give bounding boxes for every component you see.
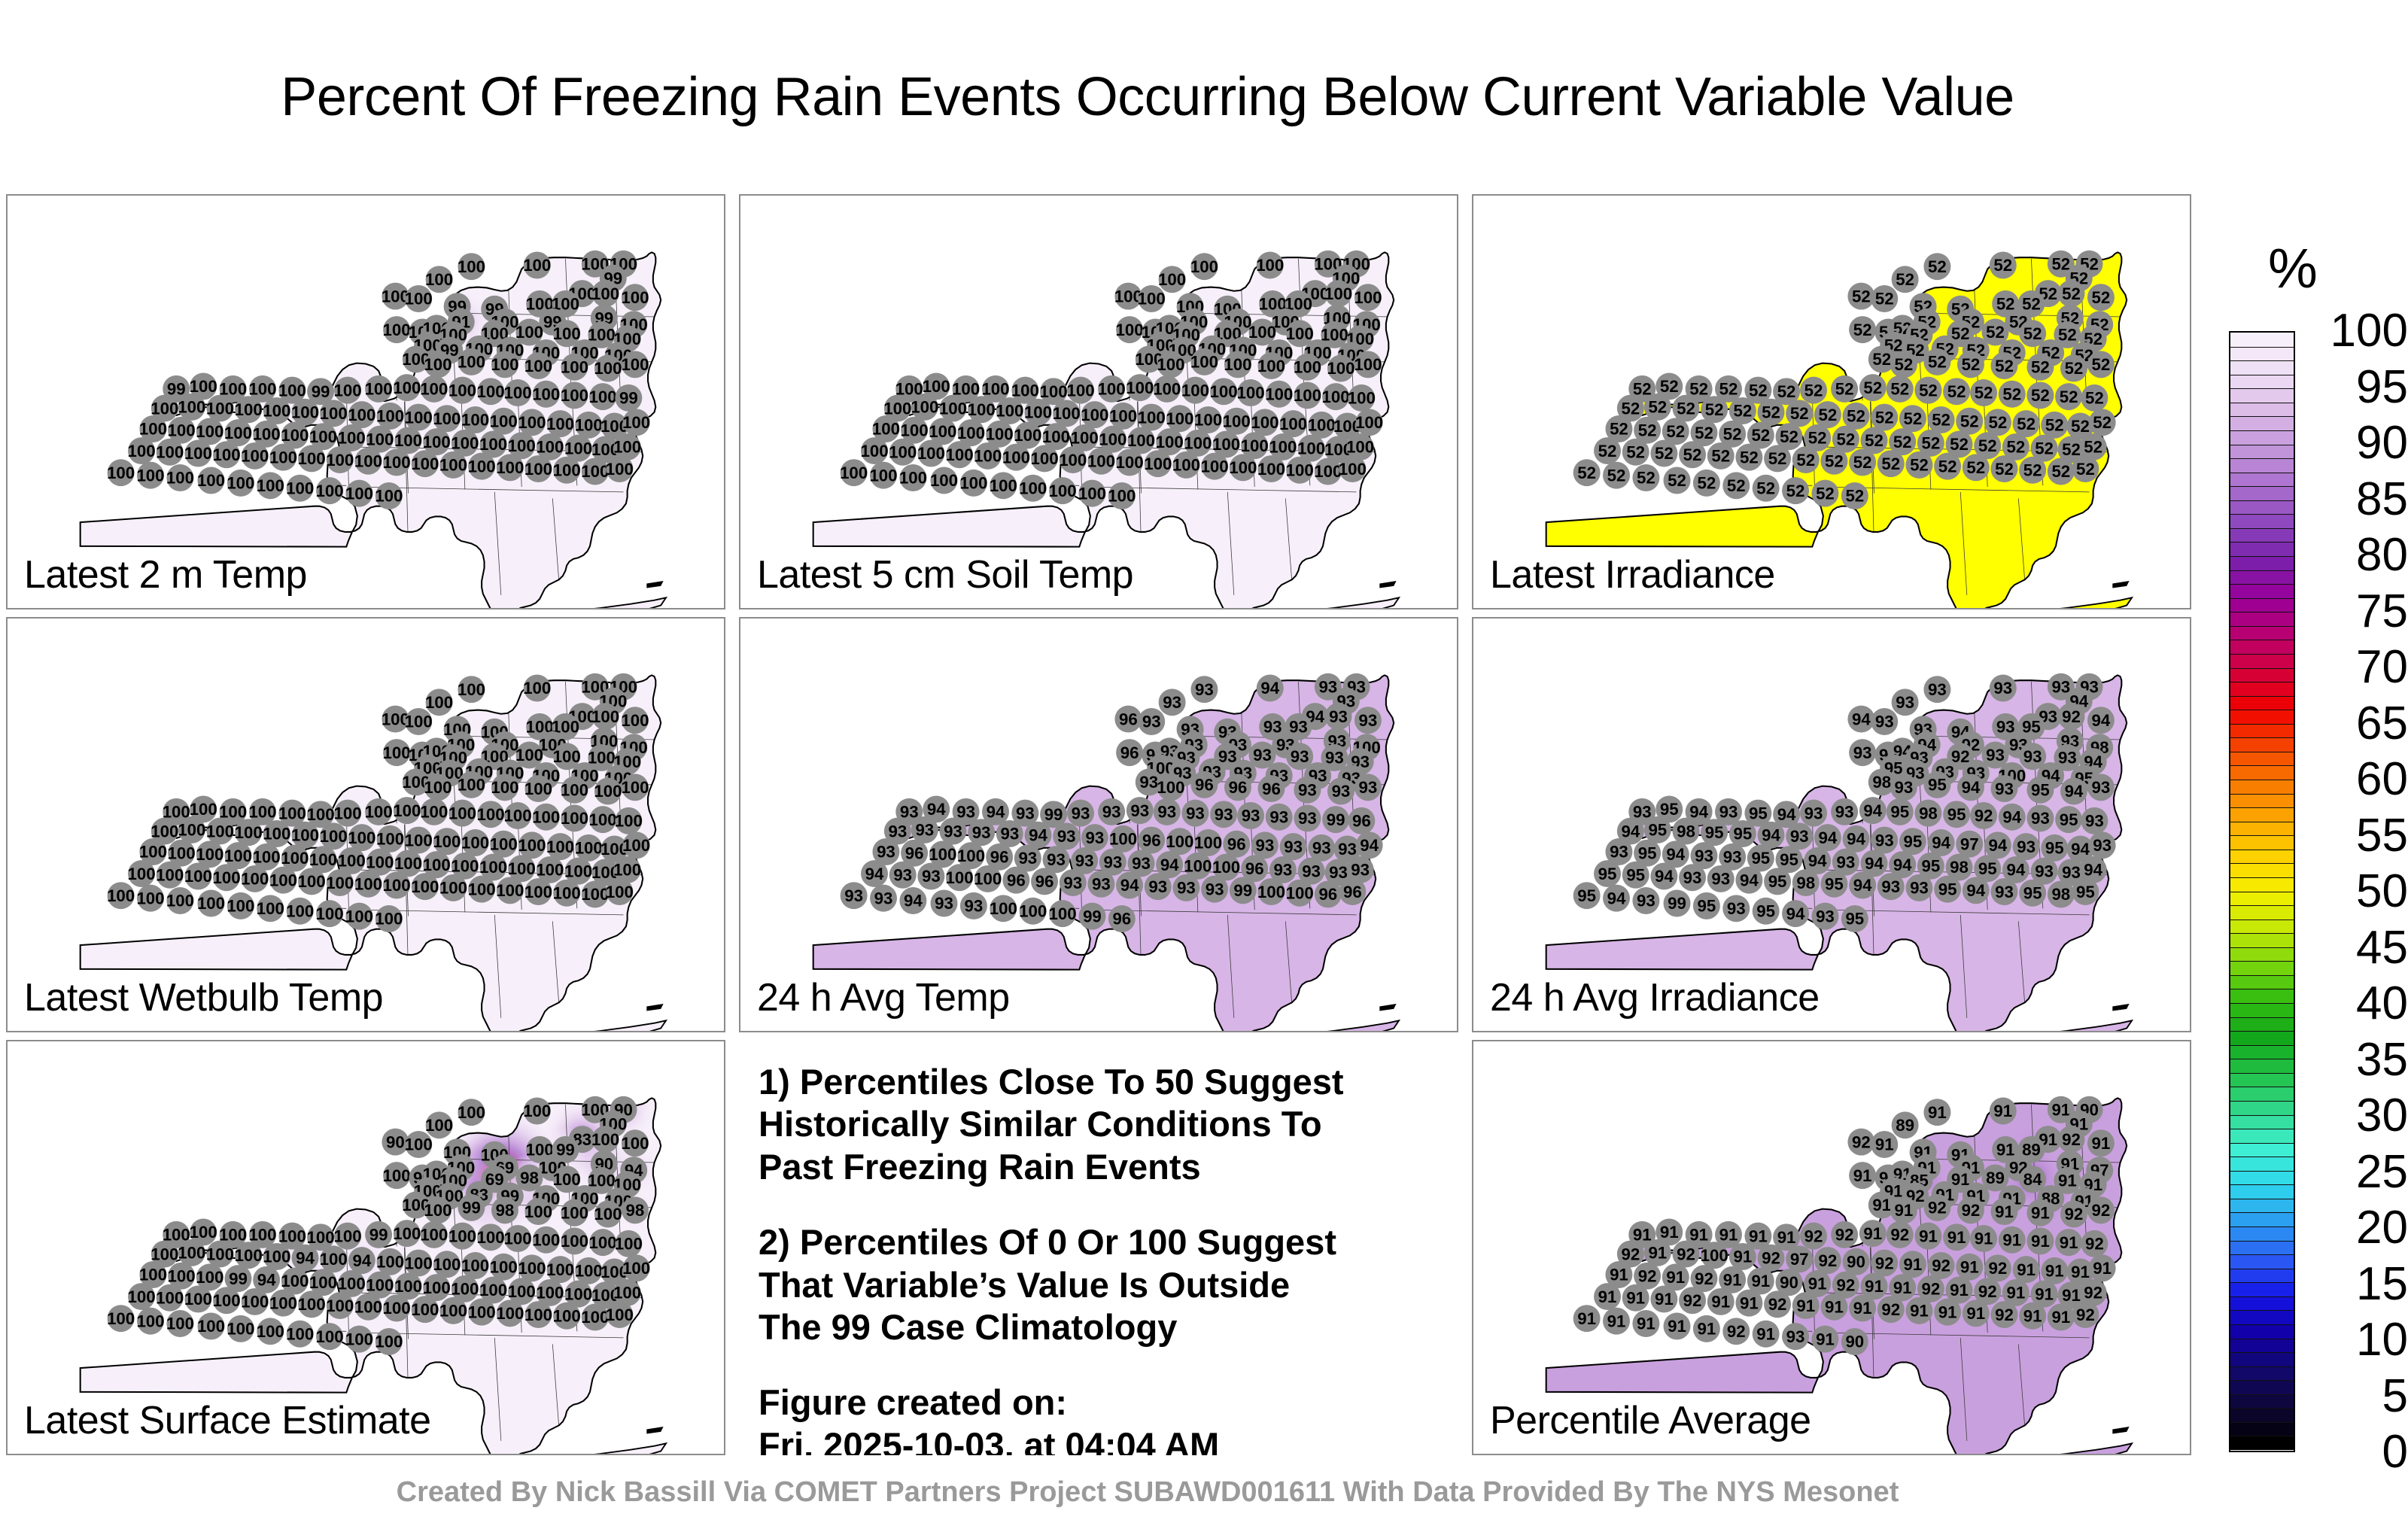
svg-text:100: 100 — [496, 458, 524, 477]
svg-text:52: 52 — [1668, 471, 1686, 490]
station-marker: 100 — [212, 864, 240, 891]
station-marker: 52 — [1622, 439, 1649, 466]
colorbar-tick: 35 — [2298, 1037, 2408, 1084]
station-marker: 100 — [1237, 379, 1265, 406]
svg-text:95: 95 — [2045, 839, 2064, 858]
svg-text:100: 100 — [461, 834, 489, 853]
svg-text:91: 91 — [1950, 1281, 1969, 1299]
station-marker: 93 — [911, 816, 938, 843]
svg-text:100: 100 — [990, 899, 1017, 918]
svg-text:91: 91 — [1607, 1312, 1626, 1330]
station-marker: 100 — [1224, 351, 1251, 378]
station-marker: 100 — [212, 1287, 240, 1314]
svg-text:52: 52 — [1705, 400, 1724, 419]
station-marker: 100 — [491, 351, 518, 378]
station-marker: 52 — [1999, 381, 2026, 408]
station-marker: 100 — [156, 1284, 184, 1312]
svg-text:92: 92 — [1881, 1300, 1900, 1319]
svg-text:100: 100 — [1078, 484, 1106, 503]
station-marker: 95 — [1923, 771, 1950, 798]
station-marker: 52 — [1594, 437, 1621, 464]
colorbar-band — [2230, 1031, 2294, 1045]
colorbar-tick: 20 — [2298, 1205, 2408, 1251]
svg-text:91: 91 — [1796, 1296, 1815, 1315]
station-marker: 90 — [1841, 1328, 1868, 1355]
colorbar-band — [2230, 556, 2294, 570]
svg-text:52: 52 — [1865, 431, 1884, 450]
svg-text:100: 100 — [561, 386, 588, 405]
svg-text:100: 100 — [375, 1333, 403, 1351]
svg-text:100: 100 — [291, 403, 319, 421]
station-marker: 100 — [263, 397, 290, 424]
svg-text:100: 100 — [1324, 284, 1352, 303]
station-marker: 96 — [1114, 706, 1142, 733]
station-marker: 92 — [1877, 1296, 1905, 1323]
station-marker: 92 — [2072, 1301, 2099, 1328]
station-marker: 100 — [504, 1225, 532, 1252]
station-marker: 100 — [1210, 378, 1238, 405]
svg-text:100: 100 — [235, 1246, 263, 1265]
station-marker: 100 — [490, 831, 518, 858]
svg-text:92: 92 — [1975, 807, 1993, 825]
svg-text:94: 94 — [1786, 904, 1805, 923]
svg-text:95: 95 — [1577, 886, 1596, 905]
station-marker: 100 — [333, 800, 361, 827]
svg-text:93: 93 — [1895, 778, 1914, 797]
station-marker: 100 — [326, 869, 354, 896]
svg-text:52: 52 — [1845, 487, 1864, 506]
station-marker: 100 — [424, 774, 451, 801]
svg-text:52: 52 — [2062, 284, 2081, 303]
colorbar-band — [2230, 989, 2294, 1003]
colorbar-band — [2230, 598, 2294, 612]
svg-text:93: 93 — [965, 897, 984, 916]
svg-text:93: 93 — [1072, 804, 1090, 822]
station-marker: 100 — [263, 820, 290, 847]
svg-text:100: 100 — [889, 442, 917, 461]
svg-text:89: 89 — [1986, 1169, 2005, 1187]
svg-text:100: 100 — [968, 400, 996, 419]
svg-text:91: 91 — [1938, 1302, 1957, 1321]
station-marker: 52 — [1664, 467, 1691, 494]
svg-text:52: 52 — [1993, 256, 2012, 275]
svg-text:100: 100 — [1099, 430, 1126, 448]
station-marker: 95 — [1899, 828, 1926, 855]
station-marker: 93 — [1892, 688, 1919, 716]
svg-text:94: 94 — [1777, 805, 1796, 824]
svg-text:94: 94 — [1808, 852, 1827, 871]
station-marker: 93 — [1722, 895, 1750, 922]
svg-text:100: 100 — [224, 424, 252, 442]
station-marker: 100 — [575, 1257, 603, 1284]
svg-text:99: 99 — [1668, 894, 1686, 913]
station-marker: 100 — [468, 1299, 496, 1326]
svg-text:100: 100 — [491, 355, 518, 374]
station-marker: 94 — [1356, 831, 1383, 859]
station-marker: 100 — [241, 865, 269, 892]
station-marker: 100 — [257, 472, 284, 499]
station-marker: 93 — [996, 820, 1023, 847]
svg-text:91: 91 — [1689, 1226, 1708, 1245]
svg-text:93: 93 — [1986, 746, 2005, 764]
station-marker: 100 — [1053, 400, 1081, 427]
station-marker: 100 — [1144, 450, 1172, 477]
svg-text:89: 89 — [1896, 1116, 1914, 1135]
svg-text:99: 99 — [1044, 805, 1063, 824]
svg-text:100: 100 — [477, 1228, 505, 1247]
svg-text:92: 92 — [2092, 1201, 2111, 1220]
svg-text:100: 100 — [248, 380, 276, 399]
station-marker: 52 — [1847, 283, 1874, 310]
station-marker: 52 — [2072, 455, 2099, 482]
station-marker: 52 — [1957, 351, 1984, 378]
station-marker: 91 — [1905, 1297, 1932, 1324]
colorbar-band — [2230, 1352, 2294, 1366]
station-marker: 91 — [1923, 1099, 1950, 1126]
svg-text:93: 93 — [1928, 680, 1947, 699]
station-marker: 100 — [448, 800, 476, 827]
svg-text:93: 93 — [922, 867, 941, 886]
figure-credit: Created By Nick Bassill Via COMET Partne… — [0, 1476, 2295, 1509]
svg-text:93: 93 — [1291, 747, 1309, 766]
station-marker: 93 — [1354, 707, 1382, 734]
svg-text:100: 100 — [1286, 324, 1314, 343]
station-marker: 100 — [917, 440, 945, 467]
station-marker: 52 — [1877, 450, 1905, 477]
svg-text:93: 93 — [1853, 743, 1872, 762]
station-marker: 95 — [1573, 882, 1601, 909]
station-marker: 100 — [354, 448, 382, 475]
station-marker: 99 — [1230, 877, 1257, 904]
station-marker: 91 — [2089, 1254, 2116, 1281]
station-marker: 100 — [524, 1198, 552, 1225]
svg-text:93: 93 — [1163, 693, 1181, 712]
station-marker: 94 — [899, 887, 926, 914]
station-marker: 93 — [1679, 864, 1706, 891]
svg-text:91: 91 — [1928, 1103, 1947, 1122]
station-marker: 100 — [166, 1310, 194, 1337]
station-marker: 52 — [2026, 381, 2054, 409]
station-marker: 93 — [1280, 833, 1307, 860]
svg-text:52: 52 — [1872, 350, 1891, 369]
station-marker: 100 — [235, 396, 263, 423]
colorbar-band — [2230, 919, 2294, 934]
svg-text:100: 100 — [532, 807, 560, 826]
svg-text:100: 100 — [553, 883, 581, 902]
svg-text:95: 95 — [1626, 865, 1645, 884]
station-marker: 100 — [178, 1239, 205, 1266]
svg-text:100: 100 — [383, 1166, 411, 1185]
svg-text:100: 100 — [524, 1306, 552, 1324]
svg-text:100: 100 — [263, 825, 290, 843]
station-marker: 52 — [1984, 409, 2011, 436]
svg-text:100: 100 — [345, 907, 373, 926]
map-surface-24h-avg-irradiance: 9393939394939493939493929493959492939398… — [1473, 619, 2190, 1031]
svg-text:100: 100 — [581, 885, 609, 904]
panel-label-latest-2m-temp: Latest 2 m Temp — [24, 552, 307, 597]
svg-text:91: 91 — [2060, 1233, 2078, 1252]
station-marker: 100 — [561, 1227, 588, 1254]
station-marker: 100 — [1257, 352, 1285, 379]
colorbar-band — [2230, 473, 2294, 487]
svg-text:100: 100 — [1348, 389, 1376, 408]
svg-text:93: 93 — [1177, 879, 1196, 898]
svg-text:100: 100 — [423, 856, 451, 874]
station-marker: 92 — [2081, 1230, 2108, 1257]
svg-text:91: 91 — [1733, 1248, 1752, 1266]
svg-text:100: 100 — [1156, 433, 1184, 451]
station-marker: 91 — [1664, 1312, 1691, 1339]
note-line: 2) Percentiles Of 0 Or 100 Suggest — [759, 1221, 1454, 1263]
svg-text:93: 93 — [1312, 839, 1331, 858]
station-marker: 52 — [1871, 404, 1898, 431]
svg-text:91: 91 — [2051, 1308, 2070, 1327]
station-marker: 100 — [286, 898, 314, 925]
svg-text:100: 100 — [424, 355, 451, 374]
svg-text:100: 100 — [974, 447, 1002, 466]
colorbar-band — [2230, 1199, 2294, 1213]
station-marker: 100 — [1339, 455, 1367, 482]
svg-text:100: 100 — [241, 447, 269, 466]
svg-text:100: 100 — [405, 1135, 433, 1154]
svg-text:100: 100 — [621, 355, 649, 374]
station-marker: 100 — [589, 383, 617, 410]
svg-text:100: 100 — [1279, 415, 1307, 433]
colorbar-band — [2230, 514, 2294, 528]
svg-text:52: 52 — [1947, 382, 1966, 401]
station-marker: 93 — [1237, 802, 1264, 829]
station-marker: 95 — [2026, 777, 2054, 804]
panel-label-latest-surface-estimate: Latest Surface Estimate — [24, 1398, 431, 1443]
svg-text:100: 100 — [394, 431, 422, 450]
station-marker: 93 — [1871, 827, 1898, 854]
station-marker: 94 — [1859, 797, 1887, 824]
station-marker: 52 — [1679, 441, 1706, 468]
svg-text:93: 93 — [1329, 707, 1348, 726]
svg-text:100: 100 — [1190, 257, 1218, 276]
colorbar-band — [2230, 1394, 2294, 1409]
svg-text:100: 100 — [553, 1306, 581, 1325]
svg-text:100: 100 — [136, 466, 164, 485]
station-marker: 92 — [1847, 1129, 1874, 1156]
svg-text:100: 100 — [1294, 386, 1321, 405]
colorbar-band — [2230, 1380, 2294, 1394]
note-paragraph-2: 2) Percentiles Of 0 Or 100 SuggestThat V… — [759, 1221, 1454, 1348]
svg-text:100: 100 — [523, 256, 551, 275]
station-marker: 95 — [1820, 871, 1847, 898]
svg-text:52: 52 — [1786, 482, 1805, 500]
station-marker: 91 — [1899, 1251, 1926, 1278]
svg-text:93: 93 — [1338, 840, 1357, 859]
svg-text:91: 91 — [1598, 1287, 1617, 1306]
station-marker: 100 — [424, 351, 451, 378]
svg-text:100: 100 — [1014, 426, 1041, 445]
colorbar-band — [2230, 1129, 2294, 1143]
svg-text:93: 93 — [935, 894, 953, 913]
svg-text:100: 100 — [561, 1232, 588, 1251]
svg-text:100: 100 — [196, 422, 223, 441]
svg-text:91: 91 — [1610, 1266, 1628, 1284]
station-marker: 100 — [405, 404, 433, 431]
svg-text:100: 100 — [606, 883, 634, 901]
svg-text:95: 95 — [2076, 883, 2095, 901]
svg-text:100: 100 — [621, 711, 649, 730]
svg-text:100: 100 — [872, 420, 900, 439]
colorbar-band — [2230, 542, 2294, 556]
svg-text:100: 100 — [869, 466, 897, 485]
station-marker: 91 — [1594, 1283, 1621, 1310]
station-marker: 91 — [2026, 1227, 2054, 1254]
svg-text:91: 91 — [1740, 1293, 1759, 1312]
colorbar-band — [2230, 445, 2294, 459]
svg-text:52: 52 — [2058, 326, 2077, 345]
station-marker: 99 — [365, 1221, 392, 1248]
svg-text:100: 100 — [263, 1248, 290, 1266]
svg-text:92: 92 — [1804, 1226, 1823, 1245]
svg-text:92: 92 — [1978, 1282, 1997, 1301]
station-marker: 95 — [1729, 820, 1756, 847]
station-marker: 52 — [2013, 410, 2040, 437]
svg-text:100: 100 — [405, 831, 433, 850]
station-marker: 100 — [840, 459, 868, 486]
station-marker: 100 — [1348, 385, 1376, 412]
svg-text:93: 93 — [1018, 849, 1037, 868]
svg-text:100: 100 — [127, 442, 155, 460]
station-marker: 52 — [2089, 409, 2116, 436]
svg-text:52: 52 — [1638, 421, 1657, 439]
station-marker: 52 — [1650, 440, 1677, 467]
station-marker: 100 — [1194, 406, 1222, 433]
station-marker: 95 — [2019, 880, 2046, 907]
station-marker: 100 — [315, 1323, 343, 1350]
station-marker: 94 — [1984, 831, 2011, 859]
station-marker: 93 — [1098, 798, 1125, 825]
svg-text:100: 100 — [333, 804, 361, 822]
svg-text:91: 91 — [2023, 1306, 2042, 1325]
svg-text:100: 100 — [184, 867, 212, 886]
svg-text:92: 92 — [1932, 1257, 1950, 1275]
svg-text:52: 52 — [1847, 407, 1865, 426]
svg-text:95: 95 — [1890, 803, 1909, 822]
colorbar-tick: 85 — [2298, 476, 2408, 523]
station-marker: 94 — [1603, 885, 1630, 912]
svg-text:92: 92 — [2076, 1306, 2095, 1324]
station-marker: 100 — [518, 409, 546, 436]
colorbar-tick: 100 — [2298, 308, 2408, 354]
colorbar-band — [2230, 1436, 2294, 1450]
svg-text:52: 52 — [1751, 426, 1770, 445]
station-marker: 100 — [532, 381, 560, 408]
colorbar-band — [2230, 835, 2294, 850]
svg-text:100: 100 — [345, 1330, 373, 1348]
colorbar-tick: 10 — [2298, 1317, 2408, 1363]
station-marker: 100 — [461, 1252, 489, 1279]
svg-text:52: 52 — [2002, 385, 2021, 403]
station-marker: 100 — [298, 868, 326, 895]
svg-text:100: 100 — [394, 1277, 422, 1296]
station-marker: 100 — [490, 1254, 518, 1281]
colorbar-band — [2230, 724, 2294, 738]
svg-text:52: 52 — [1804, 381, 1823, 400]
svg-text:98: 98 — [1677, 822, 1695, 840]
station-marker: 52 — [2058, 280, 2085, 307]
svg-text:95: 95 — [1904, 832, 1923, 851]
svg-text:92: 92 — [1695, 1269, 1713, 1288]
svg-text:93: 93 — [1359, 778, 1378, 797]
colorbar-band — [2230, 682, 2294, 696]
station-marker: 93 — [1190, 676, 1218, 703]
svg-text:52: 52 — [1986, 323, 2005, 342]
svg-text:93: 93 — [1790, 827, 1809, 846]
svg-text:100: 100 — [622, 1259, 650, 1278]
svg-text:100: 100 — [1190, 353, 1218, 372]
note-line: Past Freezing Rain Events — [759, 1146, 1454, 1188]
station-marker: 96 — [1138, 827, 1165, 854]
svg-text:100: 100 — [524, 780, 552, 798]
svg-text:93: 93 — [1148, 877, 1167, 896]
svg-text:91: 91 — [1633, 1226, 1652, 1245]
svg-text:90: 90 — [1780, 1273, 1798, 1292]
svg-text:93: 93 — [1875, 713, 1894, 731]
svg-text:52: 52 — [1598, 442, 1617, 460]
note-line: 1) Percentiles Close To 50 Suggest — [759, 1061, 1454, 1103]
station-marker: 100 — [235, 819, 263, 846]
svg-text:100: 100 — [613, 861, 641, 880]
station-marker: 94 — [1257, 674, 1284, 701]
station-marker: 100 — [532, 804, 560, 831]
station-marker: 100 — [439, 874, 467, 901]
svg-text:52: 52 — [2017, 415, 2036, 433]
svg-text:100: 100 — [448, 1226, 476, 1245]
svg-text:94: 94 — [1818, 828, 1837, 847]
svg-text:100: 100 — [1108, 487, 1136, 506]
station-marker: 100 — [615, 1230, 643, 1257]
svg-text:100: 100 — [990, 476, 1017, 495]
svg-text:100: 100 — [479, 435, 507, 454]
station-marker: 100 — [458, 771, 485, 798]
svg-text:100: 100 — [490, 834, 518, 853]
colorbar-band — [2230, 947, 2294, 962]
svg-text:52: 52 — [1910, 456, 1929, 475]
station-marker: 100 — [136, 462, 164, 489]
svg-text:52: 52 — [1633, 380, 1652, 399]
station-marker: 95 — [1943, 801, 1970, 828]
svg-text:100: 100 — [524, 460, 552, 479]
station-marker: 100 — [524, 1301, 552, 1328]
colorbar-tick-labels: 1009590858075706560555045403530252015105… — [2298, 331, 2408, 1452]
station-marker: 52 — [1820, 448, 1847, 475]
station-marker: 100 — [206, 1241, 234, 1268]
svg-text:100: 100 — [298, 1295, 326, 1314]
svg-text:100: 100 — [591, 1130, 619, 1149]
svg-text:100: 100 — [383, 1299, 411, 1318]
station-marker: 96 — [1190, 771, 1218, 798]
svg-text:100: 100 — [1153, 380, 1181, 399]
svg-text:52: 52 — [1852, 287, 1871, 305]
note-line: Figure created on: — [759, 1381, 1454, 1424]
station-marker: 93 — [1210, 801, 1237, 828]
station-marker: 91 — [1792, 1292, 1820, 1319]
station-marker: 93 — [960, 892, 987, 919]
station-marker: 93 — [1308, 834, 1335, 862]
station-marker: 100 — [869, 462, 897, 489]
station-marker: 94 — [1849, 872, 1876, 899]
svg-text:93: 93 — [1637, 892, 1655, 910]
station-marker: 52 — [1843, 403, 1870, 430]
svg-text:52: 52 — [1698, 474, 1716, 493]
svg-text:100: 100 — [490, 412, 518, 430]
svg-text:100: 100 — [383, 321, 411, 339]
